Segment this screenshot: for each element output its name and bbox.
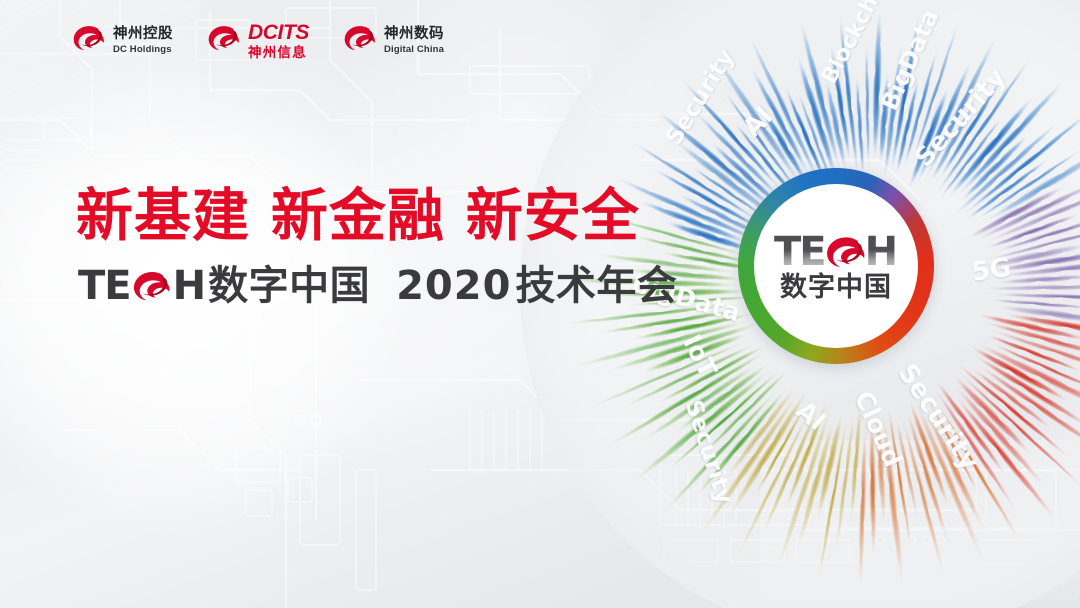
subtitle-year-text: 2020 bbox=[396, 266, 511, 306]
logo-digital-china-en: Digital China bbox=[384, 45, 444, 55]
emblem-te-text: TE bbox=[774, 232, 825, 272]
logo-dc-holdings-en: DC Holdings bbox=[113, 45, 173, 55]
logo-dcits-cn: 神州信息 bbox=[248, 46, 309, 60]
logo-dc-holdings-cn: 神州控股 bbox=[113, 27, 173, 42]
logo-dc-holdings[interactable]: 神州控股 DC Holdings bbox=[72, 24, 173, 57]
emblem-tech-wordmark: TE H bbox=[774, 232, 898, 272]
poster-subtitle: TE H 数字中国 2020 技术年会 bbox=[78, 266, 677, 306]
partner-logo-bar: 神州控股 DC Holdings DCITS 神州信息 bbox=[72, 22, 444, 60]
dc-swoosh-icon bbox=[825, 235, 867, 269]
dc-swoosh-icon bbox=[72, 24, 106, 57]
logo-digital-china[interactable]: 神州数码 Digital China bbox=[343, 24, 444, 57]
emblem-inner-disc: TE H 数字中国 bbox=[754, 184, 918, 348]
subtitle-te-text: TE bbox=[78, 266, 131, 306]
subtitle-cn-text: 数字中国 bbox=[208, 266, 370, 306]
dc-swoosh-icon bbox=[132, 270, 172, 302]
subtitle-h-text: H bbox=[173, 266, 206, 306]
emblem-chinese-text: 数字中国 bbox=[780, 274, 892, 301]
emblem-h-text: H bbox=[865, 232, 898, 272]
logo-digital-china-cn: 神州数码 bbox=[384, 27, 444, 42]
logo-dcits[interactable]: DCITS 神州信息 bbox=[207, 22, 309, 60]
tech-digital-china-emblem: TE H 数字中国 bbox=[738, 168, 934, 364]
poster-headline: 新基建 新金融 新安全 bbox=[76, 188, 640, 245]
logo-dcits-brand: DCITS bbox=[248, 22, 309, 43]
dc-swoosh-icon bbox=[343, 24, 377, 57]
poster-canvas: SecurityAIBlockchainBigDataSecurity5GSec… bbox=[0, 0, 1080, 608]
dc-swoosh-icon bbox=[207, 24, 241, 57]
subtitle-tail-text: 技术年会 bbox=[515, 266, 677, 306]
